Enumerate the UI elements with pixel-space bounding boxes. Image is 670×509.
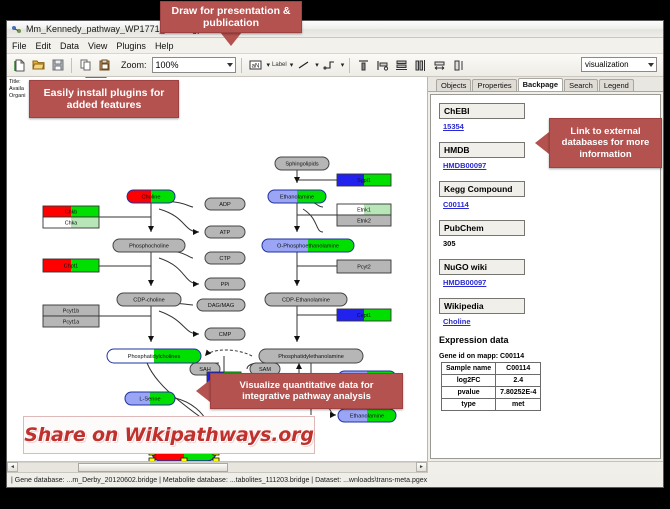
stack-vertical-icon[interactable] xyxy=(393,57,410,74)
pathway-node-label: DAG/MAG xyxy=(208,303,234,309)
scroll-left-icon[interactable]: ◄ xyxy=(7,462,18,472)
line-icon[interactable] xyxy=(295,57,312,74)
pathway-node-label: Sphingolipids xyxy=(285,161,318,167)
db-header-chebi: ChEBI xyxy=(439,103,525,119)
menu-bar: File Edit Data View Plugins Help xyxy=(7,38,663,54)
zoom-value: 100% xyxy=(156,60,179,70)
menu-item-view[interactable]: View xyxy=(88,41,112,51)
gene-node-pcyt1a[interactable]: Pcyt1a xyxy=(43,316,99,327)
pathway-node-label: Phosphatidylethanolamine xyxy=(278,354,344,360)
db-link-nugo-wiki[interactable]: HMDB00097 xyxy=(443,278,660,287)
callout-external-databases: Link to external databases for more info… xyxy=(549,118,662,168)
gene-node-chka[interactable]: Chka xyxy=(43,217,99,228)
expr-label-type: type xyxy=(442,399,496,411)
db-link-kegg-compound[interactable]: C00114 xyxy=(443,200,660,209)
gene-node-chpt1[interactable]: Chpt1 xyxy=(43,259,99,272)
label-tool-icon[interactable]: Label xyxy=(272,62,287,68)
gene-node-chkb[interactable]: Chkb xyxy=(43,206,99,217)
gene-id-on-mapp: Gene id on mapp: C00114 xyxy=(439,353,660,360)
table-row: pvalue 7.80252E-4 xyxy=(442,387,541,399)
tab-objects[interactable]: Objects xyxy=(436,79,471,91)
expr-label-log2fc: log2FC xyxy=(442,375,496,387)
share-wikipathways-text: Share on Wikipathways.org xyxy=(24,424,313,446)
screenshot-root: Mm_Kennedy_pathway_WP1771_45176.gpml Fil… xyxy=(0,0,670,509)
chevron-down-icon xyxy=(648,63,654,67)
expr-label-sample-name: Sample name xyxy=(442,363,496,375)
metabolite-node-ethanolamine-top[interactable]: Ethanolamine xyxy=(268,190,326,203)
pathvisio-window: Mm_Kennedy_pathway_WP1771_45176.gpml Fil… xyxy=(6,20,664,488)
pathway-node-label: O-Phosphoethanolamine xyxy=(277,243,339,249)
chevron-down-icon xyxy=(227,63,233,67)
metabolite-node-atp[interactable]: ATP xyxy=(205,226,245,238)
expr-value-sample-name: C00114 xyxy=(496,363,541,375)
db-header-nugo-wiki: NuGO wiki xyxy=(439,259,525,275)
callout-install-plugins-arrow xyxy=(85,77,107,78)
pathway-node-label: Etnk2 xyxy=(357,218,371,224)
gene-node-pcyt1b[interactable]: Pcyt1b xyxy=(43,305,99,316)
pathway-node-label: Chka xyxy=(65,220,78,226)
align-left-icon[interactable] xyxy=(374,57,391,74)
pathway-node-label: SAM xyxy=(259,367,271,373)
pathway-node-label: Chkb xyxy=(65,209,78,215)
callout-visualize-data-arrow xyxy=(196,380,210,402)
open-file-icon[interactable] xyxy=(30,57,47,74)
gene-node-etnk1[interactable]: Etnk1 xyxy=(337,204,391,215)
new-file-icon[interactable] xyxy=(11,57,28,74)
pathway-node-label: ATP xyxy=(220,230,231,236)
expr-value-log2fc: 2.4 xyxy=(496,375,541,387)
expression-data-table: Sample name C00114 log2FC 2.4 pvalue 7.8… xyxy=(441,362,541,411)
gene-node-sgpl1[interactable]: Sgpl1 xyxy=(337,174,391,186)
main-toolbar: Zoom: 100% aN ▾ Label ▾ ▾ ▾ xyxy=(7,54,663,77)
gene-node-etnk2[interactable]: Etnk2 xyxy=(337,215,391,226)
pathway-node-label: Ethanolamine xyxy=(350,413,384,419)
db-header-kegg-compound: Kegg Compound xyxy=(439,181,525,197)
align-top-icon[interactable] xyxy=(355,57,372,74)
metabolite-node-adp[interactable]: ADP xyxy=(205,198,245,210)
menu-item-help[interactable]: Help xyxy=(155,41,179,51)
scroll-right-icon[interactable]: ► xyxy=(416,462,427,472)
menu-item-plugins[interactable]: Plugins xyxy=(116,41,151,51)
toolbar-separator xyxy=(349,58,350,73)
pathway-canvas[interactable]: Title: Availa Organi xyxy=(7,77,428,461)
menu-item-data[interactable]: Data xyxy=(60,41,84,51)
interaction-icon[interactable] xyxy=(321,57,338,74)
gene-node-pcyt2[interactable]: Pcyt2 xyxy=(337,260,391,273)
pathway-node-label: CMP xyxy=(219,332,232,338)
db-header-pubchem: PubChem xyxy=(439,220,525,236)
toolbar-separator xyxy=(241,58,242,73)
status-bar: | Gene database: ...m_Derby_20120602.bri… xyxy=(7,472,663,487)
metabolite-node-o-phosphoethanolamine[interactable]: O-Phosphoethanolamine xyxy=(262,239,354,252)
tab-legend[interactable]: Legend xyxy=(599,79,634,91)
pathvisio-app-icon xyxy=(11,24,22,35)
pathway-node-label: Pcyt1a xyxy=(63,319,79,325)
tab-backpage[interactable]: Backpage xyxy=(518,78,563,91)
metabolite-node-dag-mag[interactable]: DAG/MAG xyxy=(197,299,245,311)
metabolite-node-cdp-ethanolamine[interactable]: CDP-Ethanolamine xyxy=(265,293,347,306)
pathway-node-label: ADP xyxy=(219,202,231,208)
metabolite-node-cmp[interactable]: CMP xyxy=(205,328,245,340)
common-width-icon[interactable] xyxy=(431,57,448,74)
metabolite-node-phosphatidylcholines[interactable]: Phosphatidylcholines xyxy=(107,349,201,363)
window-titlebar: Mm_Kennedy_pathway_WP1771_45176.gpml xyxy=(7,21,663,38)
tab-search[interactable]: Search xyxy=(564,79,598,91)
common-height-icon[interactable] xyxy=(450,57,467,74)
save-file-icon[interactable] xyxy=(49,57,66,74)
expression-data-heading: Expression data xyxy=(439,335,660,345)
metabolite-node-phosphocholine[interactable]: Phosphocholine xyxy=(113,239,185,252)
callout-share-wikipathways: Share on Wikipathways.org xyxy=(23,416,315,454)
db-header-wikipedia: Wikipedia xyxy=(439,298,525,314)
expr-value-type: met xyxy=(496,399,541,411)
metabolite-node-ethanolamine-right[interactable]: Ethanolamine xyxy=(338,409,396,422)
table-row: type met xyxy=(442,399,541,411)
zoom-label: Zoom: xyxy=(121,60,147,70)
chevron-down-icon[interactable]: ▾ xyxy=(315,61,319,69)
table-row: Sample name C00114 xyxy=(442,363,541,375)
callout-external-databases-arrow xyxy=(535,132,549,154)
pathway-node-label: Pcyt2 xyxy=(357,264,370,270)
scrollbar-filler xyxy=(427,462,663,473)
metabolite-node-choline-top[interactable]: Choline xyxy=(127,190,175,203)
chevron-down-icon[interactable]: ▾ xyxy=(341,61,345,69)
scroll-thumb[interactable] xyxy=(78,463,228,472)
db-value-pubchem: 305 xyxy=(443,239,660,248)
db-link-wikipedia[interactable]: Choline xyxy=(443,317,660,326)
expr-label-pvalue: pvalue xyxy=(442,387,496,399)
metabolite-node-cdp-choline[interactable]: CDP-choline xyxy=(117,293,181,306)
visualization-combobox[interactable]: visualization xyxy=(581,57,657,72)
pathway-node-label: PPi xyxy=(221,282,230,288)
pathway-node-label: CDP-choline xyxy=(133,297,164,303)
scroll-track[interactable] xyxy=(18,462,416,472)
status-text: | Gene database: ...m_Derby_20120602.bri… xyxy=(11,477,427,484)
menu-item-file[interactable]: File xyxy=(12,41,32,51)
datanode-icon[interactable]: aN xyxy=(247,57,264,74)
pathway-node-label: CDP-Ethanolamine xyxy=(282,297,330,303)
pathway-node-label: Ethanolamine xyxy=(280,194,314,200)
callout-visualize-data: Visualize quantitative data for integrat… xyxy=(210,373,403,409)
pathway-node-label: Cept1 xyxy=(357,313,371,319)
metabolite-node-l-serine-left[interactable]: L-Serine xyxy=(125,392,175,405)
pathway-node-label: Phosphatidylcholines xyxy=(128,354,181,360)
pathway-node-label: Choline xyxy=(142,194,161,200)
toolbar-separator xyxy=(71,58,72,73)
pathway-node-label: L-Serine xyxy=(139,396,160,402)
pathway-node-label: Sgpl1 xyxy=(357,178,371,184)
pathway-node-label: Pcyt1b xyxy=(63,308,79,314)
chevron-down-icon[interactable]: ▾ xyxy=(267,61,271,69)
zoom-combobox[interactable]: 100% xyxy=(152,57,236,73)
side-tabs: Objects Properties Backpage Search Legen… xyxy=(428,77,663,92)
metabolite-node-phosphatidylethanolamine[interactable]: Phosphatidylethanolamine xyxy=(259,349,363,363)
callout-draw-publication-arrow xyxy=(220,32,242,46)
metabolite-node-ctp[interactable]: CTP xyxy=(205,252,245,264)
chevron-down-icon[interactable]: ▾ xyxy=(290,61,294,69)
pathway-node-label: Chpt1 xyxy=(64,263,78,269)
metabolite-node-sphingolipids[interactable]: Sphingolipids xyxy=(275,157,329,170)
svg-text:aN: aN xyxy=(251,64,259,70)
menu-item-edit[interactable]: Edit xyxy=(36,41,57,51)
stack-horizontal-icon[interactable] xyxy=(412,57,429,74)
visualization-value: visualization xyxy=(585,60,629,69)
metabolite-node-ppi[interactable]: PPi xyxy=(205,278,245,290)
table-row: log2FC 2.4 xyxy=(442,375,541,387)
expr-value-pvalue: 7.80252E-4 xyxy=(496,387,541,399)
pathway-node-label: CTP xyxy=(219,256,230,262)
horizontal-scrollbar[interactable]: ◄ ► xyxy=(7,461,663,472)
pathway-node-label: Etnk1 xyxy=(357,207,371,213)
pathway-node-label: Phosphocholine xyxy=(129,243,169,249)
tab-properties[interactable]: Properties xyxy=(472,79,516,91)
copy-icon[interactable] xyxy=(77,57,94,74)
paste-icon[interactable] xyxy=(96,57,113,74)
callout-draw-publication: Draw for presentation & publication xyxy=(160,1,302,33)
callout-install-plugins: Easily install plugins for added feature… xyxy=(29,80,179,118)
db-header-hmdb: HMDB xyxy=(439,142,525,158)
gene-node-cept1[interactable]: Cept1 xyxy=(337,309,391,321)
